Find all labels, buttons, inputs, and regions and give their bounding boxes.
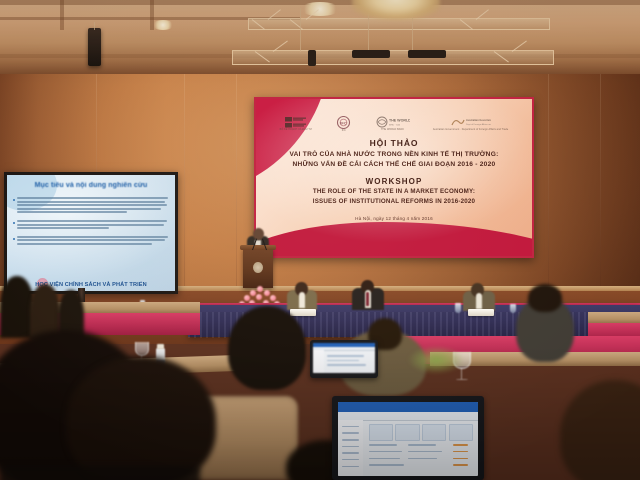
lighting-truss: [232, 50, 554, 65]
table-greenery: [408, 346, 464, 374]
australia-aid-logo-caption: Australian Government · Department of Fo…: [433, 129, 508, 131]
slide-body: [13, 197, 170, 252]
svg-text:Australian Government: Australian Government: [466, 118, 491, 122]
ifc-logo: IFC IFC: [335, 116, 352, 132]
attendee-foreground-left2: [66, 356, 216, 480]
page-card: [449, 424, 473, 441]
bullet-dot-icon: [13, 199, 15, 201]
svg-text:IFC: IFC: [341, 120, 348, 125]
ceiling-beam: [60, 0, 64, 30]
svg-text:IBRD · IDA: IBRD · IDA: [389, 124, 400, 127]
speaker-podium: [243, 248, 273, 288]
banner-title-vi-2: NHỮNG VẤN ĐỀ CẢI CÁCH THỂ CHẾ GIAI ĐOẠN …: [256, 161, 532, 170]
banner-date-line: Hà Nội, ngày 12 tháng 4 năm 2016: [256, 216, 532, 221]
foreground-shadow: [0, 466, 200, 480]
banner-heading-en: WORKSHOP: [256, 177, 532, 186]
slide-bullet-paragraph: [13, 220, 170, 231]
slide-bullet-paragraph: [13, 197, 170, 215]
bullet-text-lines: [17, 236, 170, 247]
projection-screen: Mục tiêu và nội dung nghiên cứu: [4, 172, 178, 294]
ifc-logo-caption: IFC: [342, 130, 346, 132]
nameplate: [290, 309, 316, 316]
event-banner: BỘ KẾ HOẠCH VÀ ĐẦU TƯ IFC IFC THE WORLD …: [254, 97, 534, 258]
attendee-head-right: [528, 284, 562, 312]
conference-photo-scene: Mục tiêu và nội dung nghiên cứu: [0, 0, 640, 480]
page-card: [395, 424, 419, 441]
page-card: [369, 424, 393, 441]
podium-top: [240, 245, 276, 250]
recessed-downlight: [300, 2, 340, 16]
svg-text:Dept of Foreign Affairs and Tr: Dept of Foreign Affairs and Trade: [466, 123, 491, 126]
podium-emblem-icon: [253, 262, 263, 273]
laptop-front[interactable]: [332, 396, 484, 480]
nameplate: [468, 309, 494, 316]
ministry-logo-caption: BỘ KẾ HOẠCH VÀ ĐẦU TƯ: [280, 129, 312, 131]
banner-title-vi-1: VAI TRÒ CỦA NHÀ NƯỚC TRONG NỀN KINH TẾ T…: [256, 151, 532, 160]
browser-title-bar: [338, 402, 478, 412]
banner-heading-vi: HỘI THẢO: [256, 139, 532, 149]
page-sidebar: [338, 420, 363, 476]
banner-text-block: HỘI THẢO VAI TRÒ CỦA NHÀ NƯỚC TRONG NỀN …: [256, 139, 532, 221]
banner-title-en-2: ISSUES OF INSTITUTIONAL REFORMS IN 2016-…: [256, 198, 532, 206]
page-card: [422, 424, 446, 441]
world-bank-logo-caption: THE WORLD BANK: [381, 129, 404, 131]
bullet-text-lines: [17, 197, 170, 215]
banner-title-en-1: THE ROLE OF THE STATE IN A MARKET ECONOM…: [256, 188, 532, 196]
banner-logo-row: BỘ KẾ HOẠCH VÀ ĐẦU TƯ IFC IFC THE WORLD …: [256, 115, 532, 133]
water-glass: [510, 304, 516, 313]
slide-footer: HỌC VIỆN CHÍNH SÁCH VÀ PHÁT TRIỂN: [7, 282, 175, 288]
attendee-silhouette: [0, 276, 34, 338]
slide-bullet-paragraph: [13, 236, 170, 247]
water-glass: [455, 303, 461, 313]
attendee-foreground-center: [228, 306, 306, 390]
bullet-text-lines: [17, 220, 170, 231]
australia-aid-logo: Australian Government Dept of Foreign Af…: [433, 116, 508, 131]
svg-text:THE WORLD BANK: THE WORLD BANK: [389, 119, 410, 123]
recessed-downlight: [152, 20, 174, 30]
ministry-logo: BỘ KẾ HOẠCH VÀ ĐẦU TƯ: [280, 117, 312, 131]
truss-hanger: [300, 8, 301, 52]
world-bank-logo: THE WORLD BANK IBRD · IDA THE WORLD BANK: [376, 116, 410, 131]
bottle-cap: [157, 344, 164, 349]
stage-light-bar: [352, 50, 390, 58]
speaker-hanger: [94, 22, 95, 30]
stage-light-bar: [408, 50, 446, 58]
bullet-dot-icon: [13, 222, 15, 224]
hanging-speaker: [88, 28, 101, 66]
stage-spotlight: [308, 50, 316, 66]
attendee-foreground-right: [560, 380, 640, 480]
laptop-rear: [310, 340, 378, 378]
slide-title: Mục tiêu và nội dung nghiên cứu: [7, 182, 175, 189]
bullet-dot-icon: [13, 238, 15, 240]
